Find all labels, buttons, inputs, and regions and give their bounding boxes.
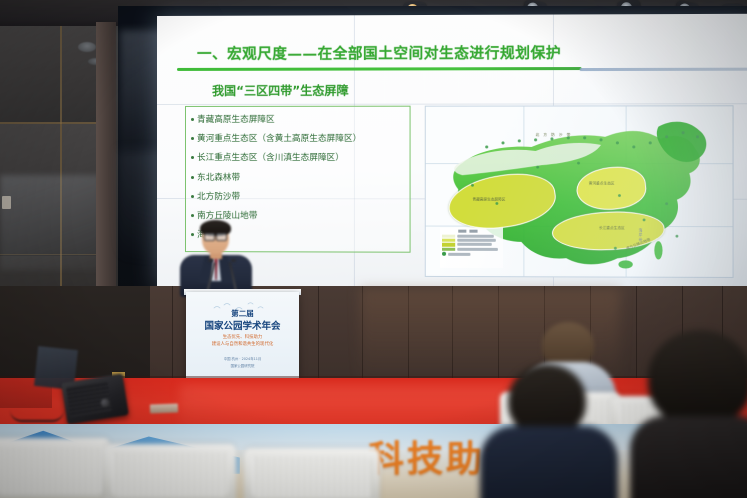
microphone-head-icon bbox=[231, 259, 236, 262]
audience-seat bbox=[0, 438, 110, 498]
podium-line-4: 建设人与自然和谐共生的现代化 bbox=[212, 341, 273, 347]
podium-line-5: 中国 杭州 · 2024年11月 bbox=[224, 356, 262, 361]
audio-cable bbox=[10, 410, 64, 422]
conference-room-photo: 一、宏观尺度——在全部国土空间对生态进行规划保护 我国“三区四带”生态屏障 青藏… bbox=[0, 0, 747, 498]
microphone-head-icon bbox=[208, 259, 213, 262]
wall-reflection bbox=[0, 175, 100, 270]
wall-pillar bbox=[96, 22, 116, 312]
podium-line-3: 生态优先、科技助力 bbox=[223, 334, 263, 340]
audience-member bbox=[480, 364, 618, 498]
eyeglasses-icon bbox=[204, 233, 227, 239]
audience-seat bbox=[104, 444, 236, 498]
podium-line-2: 国家公园学术年会 bbox=[204, 318, 280, 332]
speaker-person bbox=[180, 222, 252, 296]
wall-outlet-icon bbox=[2, 196, 11, 209]
wall-fixture-icon bbox=[78, 42, 96, 52]
floor-object bbox=[150, 404, 178, 414]
audience-seat bbox=[244, 448, 380, 498]
audience-member bbox=[630, 330, 747, 498]
